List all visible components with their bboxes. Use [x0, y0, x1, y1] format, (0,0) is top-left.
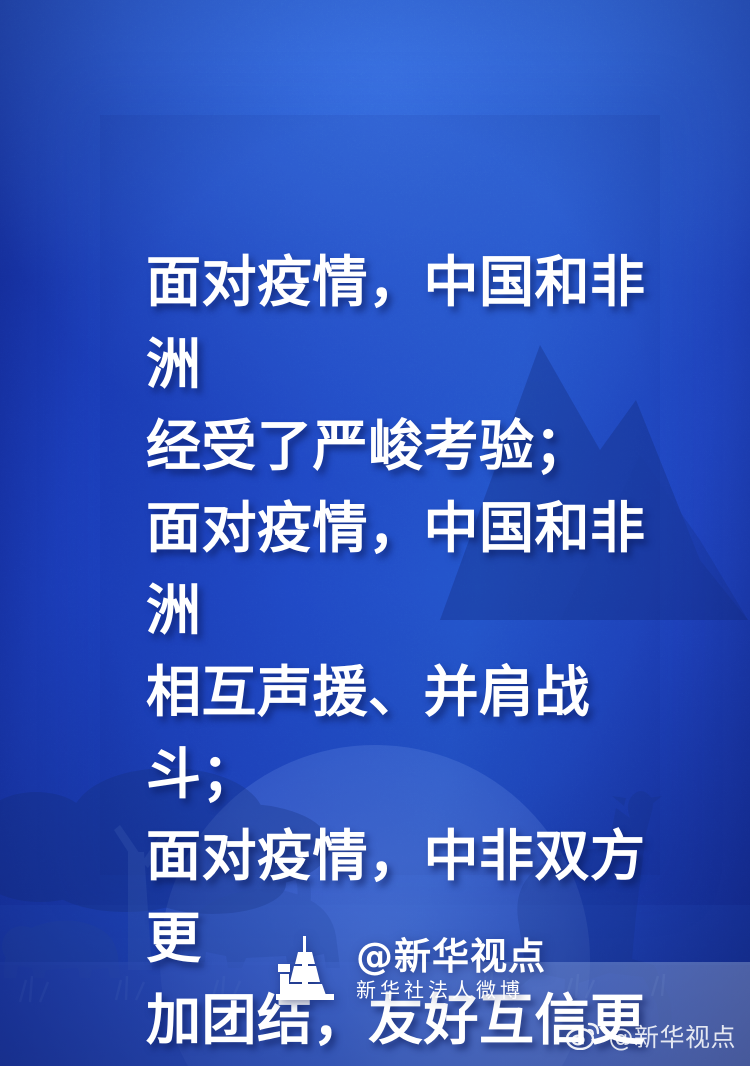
- poster-canvas: 面对疫情，中国和非洲 经受了严峻考验； 面对疫情，中国和非洲 相互声援、并肩战斗…: [0, 0, 750, 1066]
- weibo-watermark: @新华视点: [566, 1018, 736, 1054]
- watermark-handle: @新华视点: [608, 1018, 736, 1054]
- brand-subtitle: 新华社法人微博: [356, 977, 546, 1004]
- brand-handle: @新华视点: [356, 938, 546, 977]
- weibo-eye-icon: [566, 1022, 600, 1050]
- brand-lockup: @新华视点 新华社法人微博: [268, 934, 546, 1008]
- xinhua-tower-logo: [268, 934, 342, 1008]
